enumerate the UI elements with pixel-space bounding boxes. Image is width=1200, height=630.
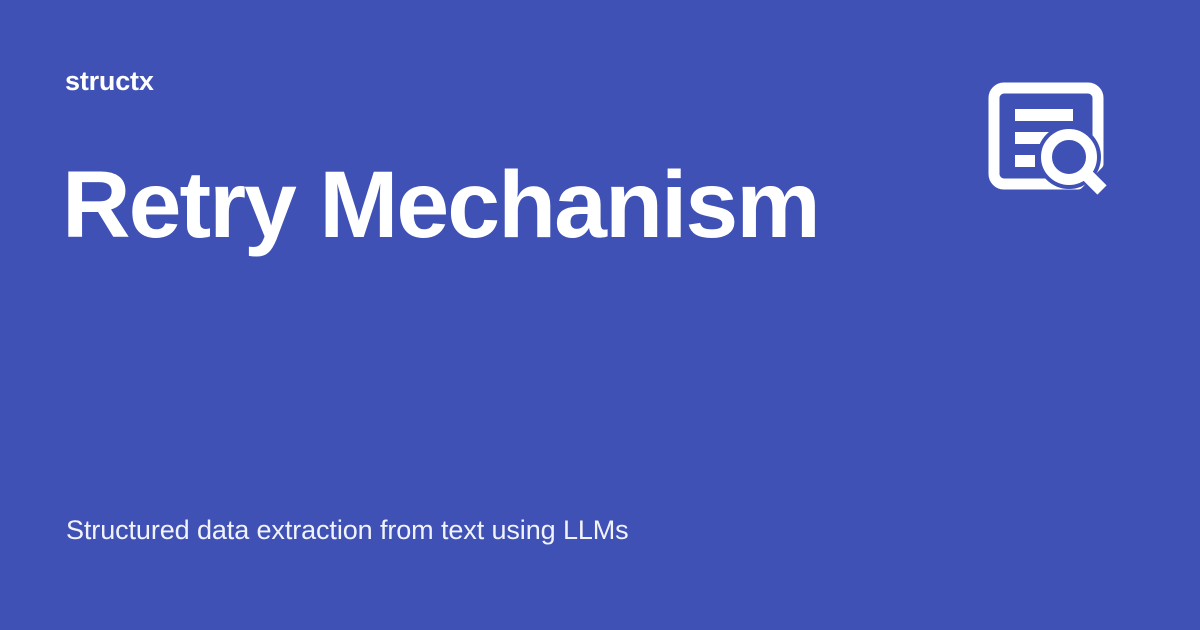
- page-title: Retry Mechanism: [62, 158, 819, 253]
- document-search-icon: [982, 68, 1118, 204]
- magnifier-handle: [1086, 174, 1102, 190]
- document-line-1: [1015, 109, 1073, 121]
- social-card: structx Retry Mechanism Structured data …: [0, 0, 1200, 630]
- page-subtitle: Structured data extraction from text usi…: [66, 514, 629, 546]
- brand-name: structx: [65, 68, 154, 95]
- document-line-3: [1015, 155, 1035, 167]
